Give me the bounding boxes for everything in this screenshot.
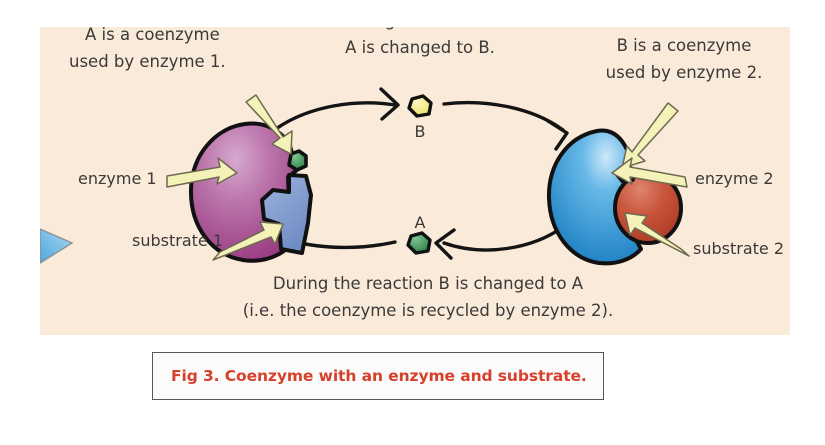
label-enzyme-2: enzyme 2: [695, 169, 774, 188]
figure-caption-text: Fig 3. Coenzyme with an enzyme and subst…: [171, 367, 587, 385]
flow-arrowhead-to-right: [548, 121, 567, 149]
coenzyme-b-free-shape: [409, 96, 431, 116]
figure-root: B A: [0, 0, 825, 445]
flow-arrow-b-to-right: [444, 103, 563, 130]
flow-arrow-left-to-b: [273, 103, 395, 131]
flow-arrow-right-to-a: [444, 227, 563, 250]
annotation-top-left-line1: A is a coenzyme: [85, 27, 220, 44]
annotation-top-left-line2: used by enzyme 1.: [69, 52, 226, 71]
annotation-bottom-line1: During the reaction B is changed to A: [273, 274, 584, 293]
label-substrate-1: substrate 1: [132, 231, 223, 250]
annotation-top-right-line2: used by enzyme 2.: [606, 63, 763, 82]
pointer-arrow-coenzyme-b: [622, 103, 678, 168]
figure-caption-box: Fig 3. Coenzyme with an enzyme and subst…: [152, 352, 604, 400]
coenzyme-b-label: B: [415, 122, 426, 141]
annotation-top-right-line1: B is a coenzyme: [617, 36, 752, 55]
coenzyme-a-label: A: [415, 213, 426, 232]
label-substrate-2: substrate 2: [693, 239, 784, 258]
corner-triangle-marker: [40, 229, 72, 263]
annotation-top-center-line1: During the reaction: [340, 27, 500, 30]
coenzyme-cycle-diagram: B A: [40, 27, 790, 335]
annotation-bottom-line2: (i.e. the coenzyme is recycled by enzyme…: [243, 301, 613, 320]
label-enzyme-1: enzyme 1: [78, 169, 157, 188]
annotation-top-center-line2: A is changed to B.: [345, 38, 495, 57]
diagram-panel: B A: [40, 27, 790, 335]
coenzyme-a-free-shape: [408, 233, 430, 253]
